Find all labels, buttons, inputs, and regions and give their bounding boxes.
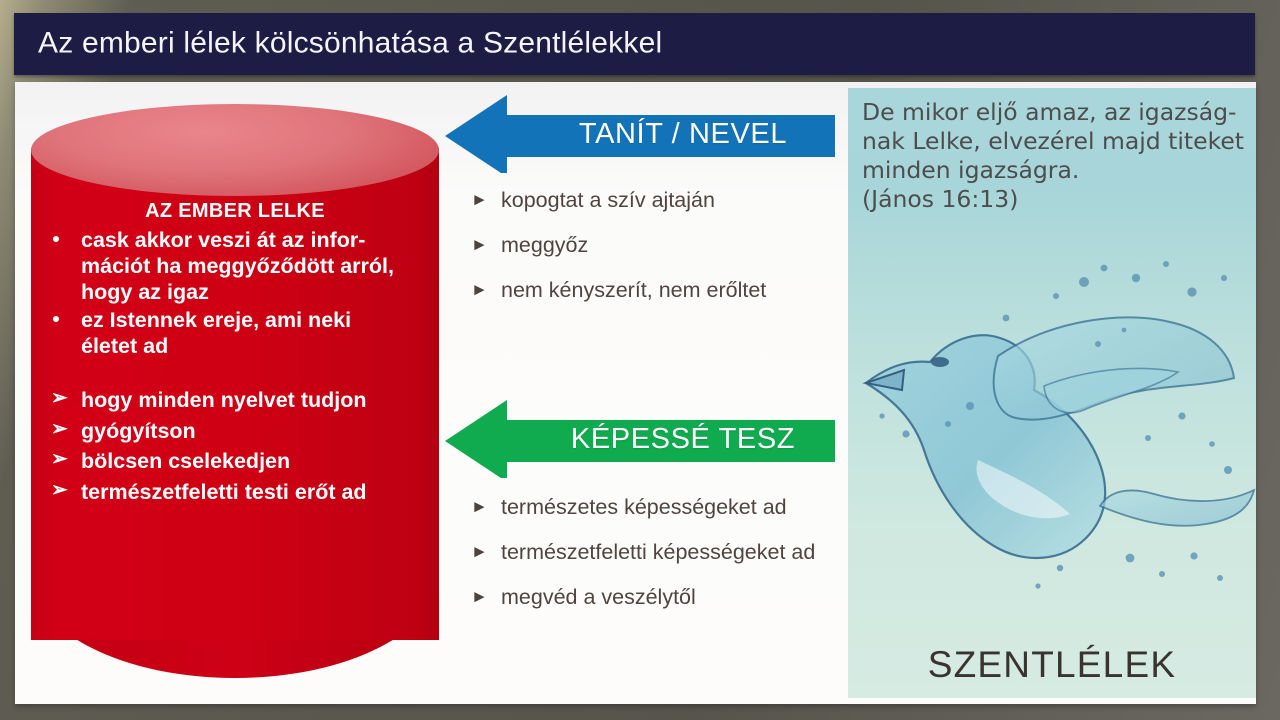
- list-item: ► természetfeletti képességeket ad: [471, 539, 843, 567]
- list-item: ► megvéd a veszélytől: [471, 584, 843, 612]
- list-item: ➢ természetfeletti testi erőt ad: [43, 477, 429, 508]
- list-item-line: hogy az igaz: [81, 280, 209, 304]
- enable-banner: KÉPESSÉ TESZ: [445, 400, 843, 478]
- list-item: ► természetes képességeket ad: [471, 494, 843, 522]
- water-splash-dove-icon: [848, 238, 1256, 618]
- triangle-bullet-icon: ►: [471, 187, 488, 214]
- list-item-label: bölcsen cselekedjen: [81, 449, 290, 473]
- teach-item-list: ► kopogtat a szív ajtaján ► meggyőz ► ne…: [445, 187, 843, 305]
- arrow-bullet-icon: ➢: [51, 445, 68, 474]
- bullet-dot-icon: [53, 316, 59, 322]
- list-item-line: mációt ha meggyőződött arról,: [81, 254, 394, 278]
- list-item-label: gyógyítson: [81, 419, 196, 443]
- cylinder-top-ellipse: [31, 104, 439, 196]
- list-item-label: megvéd a veszélytől: [501, 585, 696, 609]
- list-item: ➢ bölcsen cselekedjen: [43, 446, 429, 477]
- teach-banner-label: TANÍT / NEVEL: [533, 95, 833, 173]
- list-item: ► meggyőz: [471, 232, 843, 260]
- arrow-bullet-icon: ➢: [51, 415, 68, 444]
- arrow-bullet-icon: ➢: [51, 384, 68, 413]
- list-item-line: cask akkor veszi át az infor-: [81, 228, 365, 252]
- list-item-label: meggyőz: [501, 233, 588, 257]
- list-item: ➢ gyógyítson: [43, 416, 429, 447]
- image-caption: SZENTLÉLEK: [848, 644, 1256, 686]
- list-item: ➢ hogy minden nyelvet tudjon: [43, 385, 429, 416]
- list-item-label: természetes képességeket ad: [501, 495, 787, 519]
- enable-item-list: ► természetes képességeket ad ► természe…: [445, 494, 843, 612]
- triangle-bullet-icon: ►: [471, 584, 488, 611]
- bible-quote: De mikor eljő amaz, az igazság- nak Lelk…: [862, 98, 1248, 215]
- cylinder-bullet-list: cask akkor veszi át az infor- mációt ha …: [31, 227, 439, 359]
- list-item-line: ez Istennek ereje, ami neki: [81, 308, 351, 332]
- list-item: ► nem kényszerít, nem erőltet: [471, 277, 843, 305]
- title-bar: Az emberi lélek kölcsönhatása a Szentlél…: [14, 13, 1255, 75]
- list-item-label: kopogtat a szív ajtaján: [501, 188, 715, 212]
- middle-column: TANÍT / NEVEL ► kopogtat a szív ajtaján …: [445, 82, 843, 704]
- list-item: cask akkor veszi át az infor- mációt ha …: [43, 227, 425, 305]
- triangle-bullet-icon: ►: [471, 494, 488, 521]
- holy-spirit-image-panel: De mikor eljő amaz, az igazság- nak Lelk…: [848, 88, 1256, 698]
- human-soul-cylinder: AZ EMBER LELKE cask akkor veszi át az in…: [31, 104, 439, 684]
- slide-root: Az emberi lélek kölcsönhatása a Szentlél…: [0, 0, 1280, 720]
- list-item-label: természetfeletti testi erőt ad: [81, 480, 367, 504]
- list-item-label: nem kényszerít, nem erőltet: [501, 278, 766, 302]
- arrow-bullet-icon: ➢: [51, 476, 68, 505]
- triangle-bullet-icon: ►: [471, 277, 488, 304]
- list-item-label: hogy minden nyelvet tudjon: [81, 388, 366, 412]
- list-item: ► kopogtat a szív ajtaján: [471, 187, 843, 215]
- teach-banner: TANÍT / NEVEL: [445, 95, 843, 173]
- cylinder-content: AZ EMBER LELKE cask akkor veszi át az in…: [31, 200, 439, 507]
- triangle-bullet-icon: ►: [471, 539, 488, 566]
- cylinder-arrow-list: ➢ hogy minden nyelvet tudjon ➢ gyógyítso…: [31, 385, 439, 507]
- page-title: Az emberi lélek kölcsönhatása a Szentlél…: [38, 26, 662, 60]
- cylinder-heading: AZ EMBER LELKE: [31, 200, 439, 223]
- list-item: ez Istennek ereje, ami neki életet ad: [43, 307, 425, 359]
- list-item-label: természetfeletti képességeket ad: [501, 540, 815, 564]
- list-item-line: életet ad: [81, 334, 168, 358]
- slide-canvas: AZ EMBER LELKE cask akkor veszi át az in…: [15, 82, 1256, 704]
- bullet-dot-icon: [53, 236, 59, 242]
- triangle-bullet-icon: ►: [471, 232, 488, 259]
- enable-banner-label: KÉPESSÉ TESZ: [533, 400, 833, 478]
